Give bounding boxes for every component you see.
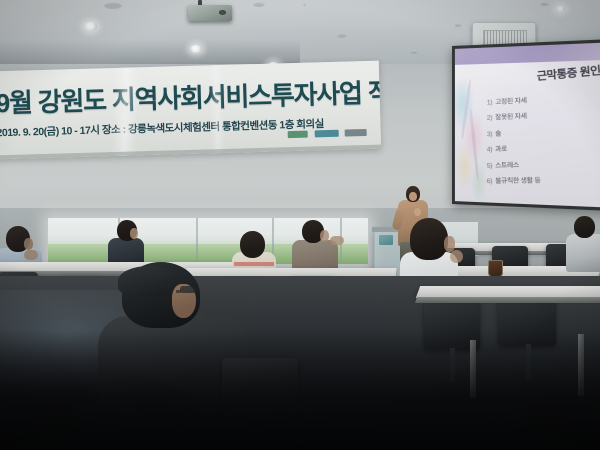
- attendee-center-gray-hand: [330, 236, 344, 245]
- attendee-left-blue-shirt-hand: [24, 250, 38, 260]
- banner-glare: [208, 61, 225, 160]
- banner-glare: [111, 61, 140, 160]
- downlight: [556, 6, 565, 12]
- attendee-white-top-hand: [450, 250, 463, 263]
- attendee-right-edge-body: [566, 234, 600, 272]
- coffee-cup[interactable]: [488, 260, 503, 277]
- attendee-stripe: [234, 262, 274, 266]
- foreground-shadow: [0, 330, 600, 450]
- attendee-back-row-left-face: [130, 228, 138, 239]
- attendee-left-blue-shirt-face: [24, 238, 33, 250]
- sponsor-logo-2: [315, 130, 339, 138]
- ceiling-fixture: [454, 23, 462, 27]
- ceiling-fixture: [337, 33, 347, 38]
- eyeglasses-temple: [176, 290, 181, 293]
- screen-glare: [455, 42, 600, 207]
- lectern-monitor: [379, 235, 393, 245]
- cap-icon: [118, 266, 180, 296]
- ceiling-fixture: [410, 50, 418, 54]
- ceiling-sensor: [303, 3, 306, 6]
- eyeglasses-icon: [180, 286, 196, 293]
- seminar-room-photo: 9월 강원도 지역사회서비스투자사업 직무교육 2019. 9. 20(금) 1…: [0, 0, 600, 450]
- downlight: [190, 45, 202, 53]
- attendee-white-top-head: [410, 218, 448, 260]
- event-banner: 9월 강원도 지역사회서비스투자사업 직무교육 2019. 9. 20(금) 1…: [0, 61, 381, 160]
- attendee-striped-top-head: [240, 231, 265, 258]
- window-mullion: [196, 218, 198, 264]
- sponsor-logo-1: [288, 131, 308, 139]
- presenter-face: [409, 192, 417, 201]
- ceiling-fixture: [253, 2, 265, 7]
- projection-screen: 근막통증 원인 1)고정된 자세 2)잘못된 자세 3)술 4)과로 5)스트레…: [455, 42, 600, 207]
- attendee-right-edge-head: [574, 216, 595, 238]
- attendee-center-gray-face: [320, 230, 329, 242]
- banner-title: 9월 강원도 지역사회서비스투자사업 직무교육: [0, 73, 380, 121]
- projector-lens-icon: [219, 10, 226, 15]
- table-edge: [415, 297, 600, 303]
- presenter-hand: [414, 208, 421, 216]
- downlight: [84, 22, 97, 31]
- sponsor-logo-3: [345, 129, 367, 137]
- ceiling-fixture: [540, 2, 549, 6]
- ceiling-speaker: [104, 2, 122, 9]
- projection-screen-frame: 근막통증 원인 1)고정된 자세 2)잘못된 자세 3)술 4)과로 5)스트레…: [452, 39, 600, 211]
